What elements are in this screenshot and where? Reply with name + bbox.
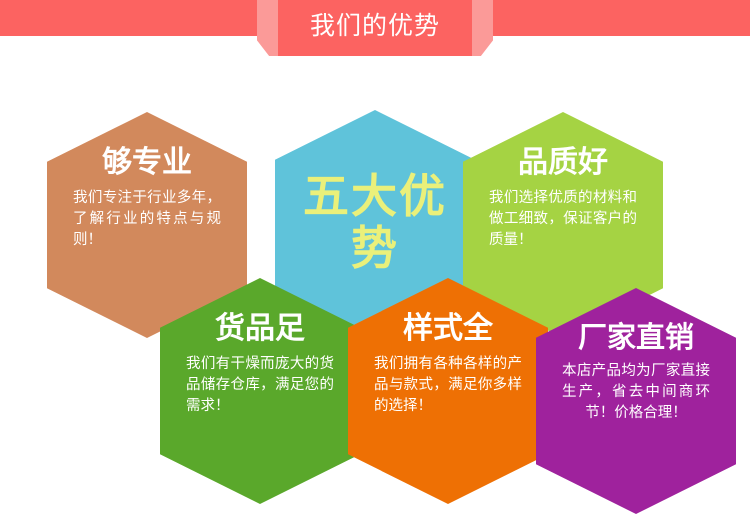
hex-body-professional: 我们专注于行业多年，了解行业的特点与规则！	[73, 178, 221, 251]
header-banner: 我们的优势	[0, 0, 750, 60]
hexagon-grid: 够专业 我们专注于行业多年，了解行业的特点与规则！ 五大优势 品质好 我们选择优…	[0, 60, 750, 491]
ribbon-center-plate: 我们的优势	[278, 0, 472, 56]
hex-body-stock: 我们有干燥而庞大的货品储存仓库，满足您的需求！	[186, 344, 334, 417]
hex-title-professional: 够专业	[102, 112, 192, 178]
hex-title-center-five-advantages: 五大优势	[301, 171, 449, 274]
ribbon-tail-left-icon	[257, 0, 279, 56]
hex-body-styles: 我们拥有各种各样的产品与款式，满足你多样的选择！	[374, 344, 522, 417]
page-title: 我们的优势	[310, 14, 440, 43]
ribbon-tail-right-icon	[471, 0, 493, 56]
hex-body-quality: 我们选择优质的材料和做工细致，保证客户的质量！	[489, 178, 637, 251]
hex-title-quality: 品质好	[518, 112, 608, 178]
hex-body-factory-direct: 本店产品均为厂家直接生产，省去中间商环节！价格合理！	[562, 353, 710, 424]
